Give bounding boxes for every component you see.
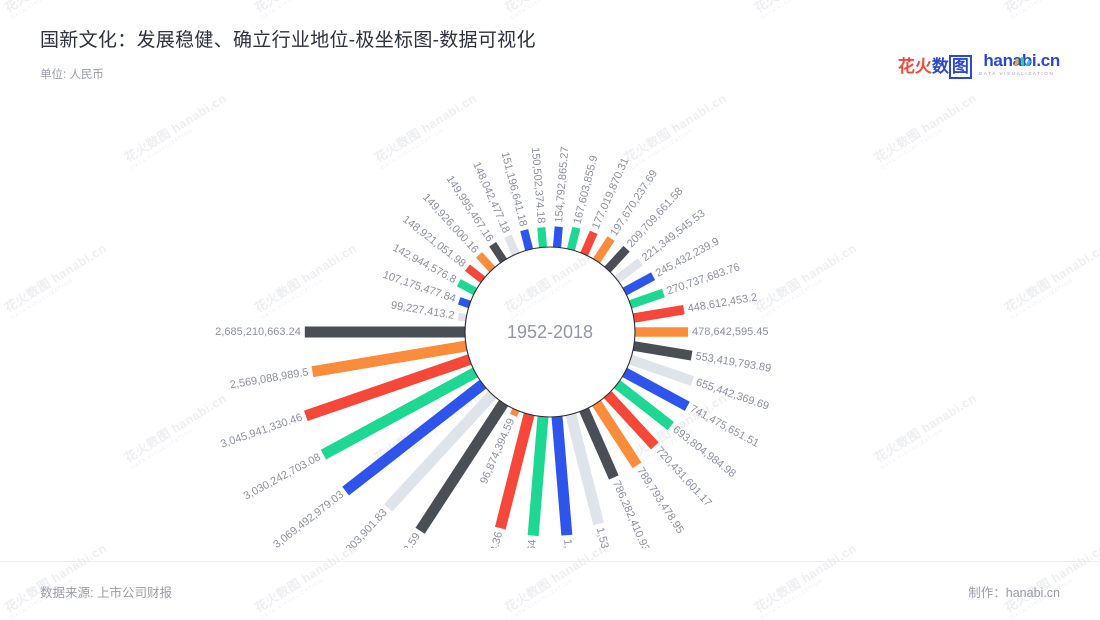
watermark-tile: 花火数图 hanabi.cnDATA VISUALIZATION (0, 0, 113, 21)
watermark-tile: 花火数图 hanabi.cnDATA VISUALIZATION (750, 0, 863, 21)
polar-bar-value-label: 154,792,865.27 (553, 146, 571, 223)
data-source-label: 数据来源: 上市公司财报 (40, 582, 172, 601)
polar-chart-svg: 154,792,865.27167,603,855.9177,019,870.3… (0, 96, 1100, 548)
polar-bar[interactable] (513, 410, 515, 416)
watermark-tile: 花火数图 hanabi.cnDATA VISUALIZATION (250, 0, 363, 21)
polar-bar-value-label: 553,419,793.89 (695, 350, 772, 374)
center-range-label: 1952-2018 (507, 322, 593, 342)
polar-bar-value-label: 1,662,630,374.25 (561, 539, 580, 548)
polar-bar[interactable] (524, 230, 529, 249)
polar-bar[interactable] (617, 262, 640, 280)
polar-bar[interactable] (557, 417, 567, 535)
chart-subtitle-unit: 单位: 人民币 (40, 67, 110, 84)
polar-bar[interactable] (541, 227, 543, 247)
brand-logo: 花火数图 hanabi.cn DATA VISUALIZATION (898, 52, 1060, 77)
polar-bar-value-label: 478,642,595.45 (692, 326, 768, 338)
polar-bar-value-label: 99,227,413.2 (390, 300, 455, 322)
polar-bar-value-label: 2,479,430,582.59 (366, 531, 423, 548)
watermark-tile: 花火数图 hanabi.cnDATA VISUALIZATION (1000, 0, 1100, 21)
brand-char-tu: 图 (949, 55, 972, 79)
polar-bar-value-label: 150,502,374.18 (529, 147, 547, 224)
polar-bar[interactable] (508, 236, 516, 254)
polar-bar-value-label: 2,685,210,663.24 (215, 326, 301, 338)
polar-labels-group: 154,792,865.27167,603,855.9177,019,870.3… (215, 146, 772, 548)
polar-bar[interactable] (571, 228, 577, 250)
polar-bar[interactable] (479, 255, 492, 270)
polar-bar-value-label: 2,569,088,989.5 (229, 366, 309, 391)
polar-bar[interactable] (596, 239, 611, 261)
brand-tagline: DATA VISUALIZATION (979, 72, 1060, 77)
polar-bar[interactable] (533, 417, 543, 536)
made-by-label: 制作：hanabi.cn (968, 582, 1060, 601)
polar-bar[interactable] (493, 244, 504, 261)
polar-bar[interactable] (630, 293, 663, 304)
polar-bar[interactable] (634, 310, 684, 318)
polar-bar-value-label: 1,672,288,133.64 (520, 539, 539, 548)
brand-char-huo: 火 (915, 57, 932, 77)
polar-bar-value-label: 3,045,941,330.46 (219, 411, 304, 450)
polar-bar-value-label: 1,626,897,323.36 (473, 531, 506, 548)
footer: 数据来源: 上市公司财报 制作：hanabi.cn (0, 561, 1100, 620)
polar-bar[interactable] (467, 268, 483, 280)
brand-char-shu: 数 (932, 57, 949, 77)
page-title: 国新文化：发展稳健、确立行业地位-极坐标图-数据可视化 (40, 28, 536, 55)
polar-bar-value-label: 786,282,410.93 (610, 479, 652, 548)
brand-logo-cn: 花火数图 (898, 52, 972, 77)
polar-bar-value-label: 655,442,369.69 (694, 377, 770, 413)
polar-bar[interactable] (634, 346, 692, 356)
watermark-tile: 花火数图 hanabi.cnDATA VISUALIZATION (500, 0, 613, 21)
polar-bar-value-label: 2,521,803,901.83 (323, 507, 390, 548)
polar-bar[interactable] (459, 283, 475, 292)
polar-bar[interactable] (608, 249, 627, 270)
header: 国新文化：发展稳健、确立行业地位-极坐标图-数据可视化 单位: 人民币 (40, 28, 536, 83)
polar-bar[interactable] (584, 232, 594, 254)
polar-bars-group (305, 227, 693, 536)
polar-bar[interactable] (459, 301, 469, 305)
polar-bar-value-label: 448,612,453.2 (687, 292, 758, 315)
brand-char-hua: 花 (898, 57, 915, 77)
polar-bar[interactable] (625, 276, 653, 291)
polar-bar[interactable] (557, 227, 559, 248)
brand-logo-latin: hanabi.cn DATA VISUALIZATION (979, 52, 1060, 77)
polar-bar-value-label: 3,069,492,979.03 (271, 489, 346, 548)
polar-chart: 154,792,865.27167,603,855.9177,019,870.3… (0, 96, 1100, 548)
polar-bar[interactable] (458, 317, 466, 318)
polar-bar-value-label: 3,030,242,703.08 (242, 451, 323, 502)
polar-bar-value-label: 1,530,089,116.35 (594, 526, 626, 548)
